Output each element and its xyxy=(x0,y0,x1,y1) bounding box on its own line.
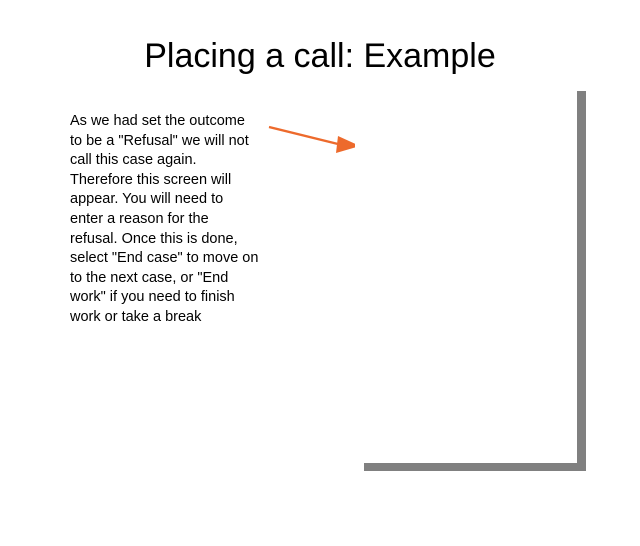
screenshot-shadow-right xyxy=(577,91,586,471)
arrow-icon xyxy=(268,122,363,156)
page-title: Placing a call: Example xyxy=(0,36,640,76)
embedded-app-screenshot: Not on a call Enter a reason for this ou… xyxy=(355,83,577,463)
slide-body-text: As we had set the outcome to be a "Refus… xyxy=(70,112,260,328)
callout-arrow xyxy=(268,122,363,156)
screenshot-shadow-bottom xyxy=(364,463,586,471)
